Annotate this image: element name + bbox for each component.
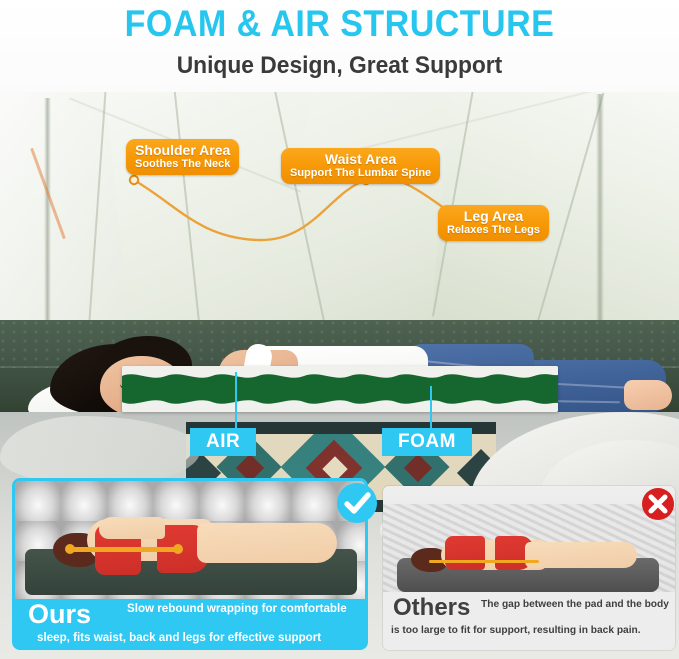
comparison-ours-panel[interactable]: Ours Slow rebound wrapping for comfortab… — [12, 478, 368, 650]
page-subtitle: Unique Design, Great Support — [17, 52, 662, 80]
callout-leg[interactable]: Leg Area Relaxes The Legs — [438, 205, 549, 241]
spine-point — [65, 544, 75, 554]
comparison-others-panel[interactable]: Others The gap between the pad and the b… — [383, 486, 675, 650]
ours-description-line1: Slow rebound wrapping for comfortable — [127, 601, 359, 616]
ours-illustration — [15, 481, 365, 599]
callout-waist[interactable]: Waist Area Support The Lumbar Spine — [281, 148, 440, 184]
page-title: FOAM & AIR STRUCTURE — [27, 4, 652, 44]
others-illustration — [383, 486, 675, 592]
callout-shoulder[interactable]: Shoulder Area Soothes The Neck — [126, 139, 239, 175]
header-section: FOAM & AIR STRUCTURE Unique Design, Grea… — [0, 0, 679, 92]
callout-title: Waist Area — [290, 151, 431, 167]
others-description-line2: is too large to fit for support, resulti… — [391, 624, 671, 638]
mattress-cross-section — [122, 366, 558, 412]
callout-subtitle: Soothes The Neck — [135, 158, 230, 171]
tag-air: AIR — [190, 428, 256, 456]
infographic-page: FOAM & AIR STRUCTURE Unique Design, Grea… — [0, 0, 679, 659]
callout-subtitle: Support The Lumbar Spine — [290, 167, 431, 180]
ours-description-line2: sleep, fits waist, back and legs for eff… — [37, 630, 359, 645]
callout-title: Shoulder Area — [135, 142, 230, 158]
ours-body-shoulder — [99, 517, 165, 539]
others-description-line1: The gap between the pad and the body — [481, 598, 669, 612]
foam-leader-line — [430, 386, 432, 432]
ours-label: Ours — [28, 599, 91, 629]
tag-foam: FOAM — [382, 428, 472, 456]
check-icon — [336, 482, 378, 524]
x-icon — [641, 487, 675, 521]
gap-indicator-line — [429, 560, 539, 563]
foam-wave-graphic — [122, 366, 558, 412]
callout-subtitle: Relaxes The Legs — [447, 224, 540, 237]
spine-point — [173, 544, 183, 554]
ours-body-legs — [197, 523, 337, 563]
others-body-legs — [525, 542, 637, 568]
others-swimsuit-top — [445, 536, 485, 570]
cross-section-body — [122, 366, 558, 412]
callout-title: Leg Area — [447, 208, 540, 224]
others-label: Others — [393, 594, 470, 622]
air-leader-line — [235, 372, 237, 432]
